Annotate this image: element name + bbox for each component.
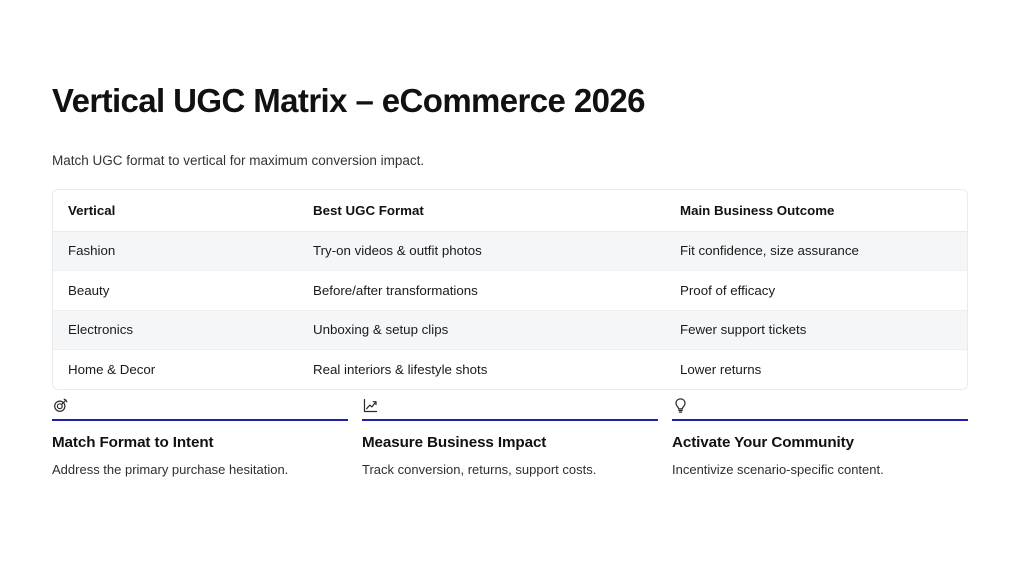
column-header-main-business-outcome: Main Business Outcome <box>665 190 968 231</box>
card-accent-rule <box>672 419 968 421</box>
vertical-ugc-matrix-table: Vertical Best UGC Format Main Business O… <box>52 189 968 390</box>
slide-root: Vertical UGC Matrix – eCommerce 2026 Mat… <box>0 0 1024 576</box>
callout-card-measure-business-impact: Measure Business Impact Track conversion… <box>362 394 658 477</box>
callout-cards: Match Format to Intent Address the prima… <box>52 394 968 477</box>
callout-card-activate-your-community: Activate Your Community Incentivize scen… <box>672 394 968 477</box>
card-body: Incentivize scenario-specific content. <box>672 462 968 477</box>
cell-vertical: Electronics <box>53 310 298 350</box>
card-accent-rule <box>52 419 348 421</box>
cell-vertical: Home & Decor <box>53 350 298 390</box>
column-header-vertical: Vertical <box>53 190 298 231</box>
lightbulb-icon <box>672 394 968 416</box>
cell-outcome: Fit confidence, size assurance <box>665 231 968 271</box>
callout-card-match-format-to-intent: Match Format to Intent Address the prima… <box>52 394 348 477</box>
card-title: Measure Business Impact <box>362 434 658 451</box>
cell-format: Real interiors & lifestyle shots <box>298 350 665 390</box>
line-chart-icon <box>362 394 658 416</box>
cell-format: Unboxing & setup clips <box>298 310 665 350</box>
table-row: Home & Decor Real interiors & lifestyle … <box>53 350 968 390</box>
target-icon <box>52 394 348 416</box>
cell-vertical: Fashion <box>53 231 298 271</box>
table-header-row: Vertical Best UGC Format Main Business O… <box>53 190 968 231</box>
cell-format: Before/after transformations <box>298 271 665 311</box>
cell-outcome: Proof of efficacy <box>665 271 968 311</box>
column-header-best-ugc-format: Best UGC Format <box>298 190 665 231</box>
card-title: Activate Your Community <box>672 434 968 451</box>
card-title: Match Format to Intent <box>52 434 348 451</box>
card-body: Address the primary purchase hesitation. <box>52 462 348 477</box>
table-row: Electronics Unboxing & setup clips Fewer… <box>53 310 968 350</box>
cell-outcome: Fewer support tickets <box>665 310 968 350</box>
table-row: Beauty Before/after transformations Proo… <box>53 271 968 311</box>
table-row: Fashion Try-on videos & outfit photos Fi… <box>53 231 968 271</box>
cell-outcome: Lower returns <box>665 350 968 390</box>
cell-format: Try-on videos & outfit photos <box>298 231 665 271</box>
page-subtitle: Match UGC format to vertical for maximum… <box>52 153 424 168</box>
card-accent-rule <box>362 419 658 421</box>
card-body: Track conversion, returns, support costs… <box>362 462 658 477</box>
cell-vertical: Beauty <box>53 271 298 311</box>
page-title: Vertical UGC Matrix – eCommerce 2026 <box>52 82 645 120</box>
